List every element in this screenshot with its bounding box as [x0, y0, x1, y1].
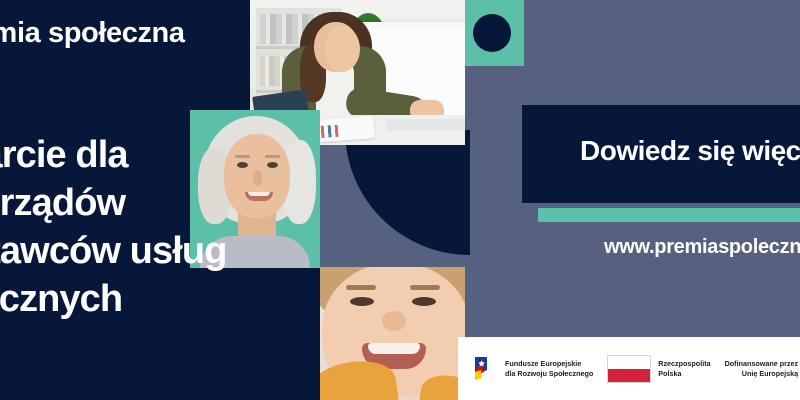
headline-line-1: Wsparcie dla: [0, 132, 234, 180]
child-eye-left: [350, 297, 374, 306]
unia-europejska-caption: Dofinansowane przez Unię Europejską: [725, 359, 798, 378]
brand-eyebrow: Premia społeczna: [0, 16, 176, 50]
child-eyebrow-left: [346, 285, 376, 290]
child-eye-right: [412, 297, 436, 306]
teal-accent-bar: [538, 208, 800, 222]
headline-line-4: społecznych: [0, 276, 234, 324]
fundusze-europejskie-caption: Fundusze Europejskie dla Rozwoju Społecz…: [505, 359, 593, 378]
logo-row: Fundusze Europejskie dla Rozwoju Społecz…: [458, 355, 800, 383]
senior-eye-right: [267, 162, 278, 168]
senior-eyebrow-right: [265, 155, 280, 158]
senior-eye-left: [237, 162, 248, 168]
poland-flag-icon: [607, 355, 651, 383]
child-eyebrow-right: [410, 285, 440, 290]
senior-nose: [253, 170, 262, 186]
website-url[interactable]: www.premiaspoleczna.gov.pl: [604, 236, 800, 259]
navy-circle-shape: [473, 14, 511, 52]
smiling-child-photo: [320, 267, 465, 400]
headline-line-3: i dostawców usług: [0, 228, 234, 276]
page-title: Wsparcie dla samorządów i dostawców usłu…: [0, 132, 234, 324]
cta-button[interactable]: Dowiedz się więcej: [522, 105, 800, 203]
unia-europejska-logo: Dofinansowane przez Unię Europejską: [725, 356, 800, 382]
rzeczpospolita-caption: Rzeczpospolita Polska: [658, 359, 710, 378]
pl-caption-line-2: Polska: [658, 369, 710, 379]
child-teeth: [368, 343, 420, 354]
fundusze-europejskie-logo: Fundusze Europejskie dla Rozwoju Społecz…: [474, 356, 593, 382]
rzeczpospolita-polska-logo: Rzeczpospolita Polska: [607, 355, 710, 383]
fe-caption-line-1: Fundusze Europejskie: [505, 359, 593, 369]
eu-funding-footer: Fundusze Europejskie dla Rozwoju Społecz…: [458, 337, 800, 400]
senior-teeth: [248, 192, 270, 196]
cta-label: Dowiedz się więcej: [580, 135, 800, 167]
child-nose: [382, 311, 406, 331]
eu-caption-line-2: Unię Europejską: [725, 369, 798, 379]
fe-caption-line-2: dla Rozwoju Społecznego: [505, 369, 593, 379]
headline-line-2: samorządów: [0, 180, 234, 228]
eu-caption-line-1: Dofinansowane przez: [725, 359, 798, 369]
keyboard: [386, 119, 465, 131]
promo-banner: Premia społeczna Wsparcie dla samorządów…: [0, 0, 800, 400]
senior-eyebrow-left: [235, 155, 250, 158]
pl-caption-line-1: Rzeczpospolita: [658, 359, 710, 369]
woman-face: [324, 26, 360, 72]
fundusze-europejskie-icon: [474, 356, 498, 382]
